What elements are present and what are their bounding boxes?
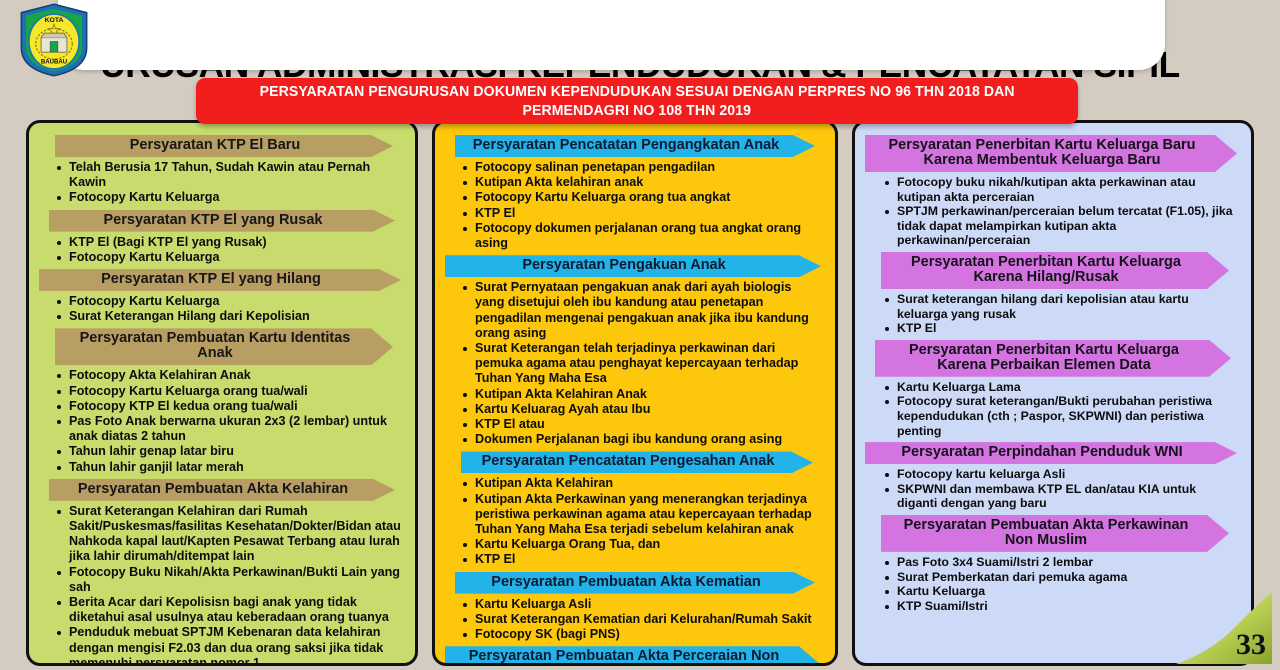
requirement-item: Kartu Keluarga Lama — [883, 380, 1239, 395]
header-plate — [58, 0, 1165, 70]
column-kartu-keluarga-perkawinan: Persyaratan Penerbitan Kartu Keluarga Ba… — [852, 120, 1254, 666]
kota-baubau-emblem-icon: KOTA BAUBAU — [16, 2, 92, 78]
logo-text-bottom: BAUBAU — [41, 59, 68, 66]
requirement-item: Surat Keterangan Hilang dari Kepolisian — [55, 309, 403, 324]
requirement-list: Pas Foto 3x4 Suami/Istri 2 lembarSurat P… — [865, 555, 1241, 613]
requirement-list: Surat Keterangan Kelahiran dari Rumah Sa… — [39, 504, 405, 666]
requirement-item: Penduduk mebuat SPTJM Kebenaran data kel… — [55, 625, 403, 666]
regulation-banner-line-2: PERMENDAGRI NO 108 THN 2019 — [523, 102, 752, 121]
requirement-list: Fotocopy salinan penetapan pengadilanKut… — [445, 160, 825, 251]
requirement-item: Fotocopy salinan penetapan pengadilan — [461, 160, 823, 175]
requirement-item: Kartu Keluarag Ayah atau Ibu — [461, 402, 823, 417]
requirement-list: Kartu Keluarga AsliSurat Keterangan Kema… — [445, 597, 825, 643]
section-header: Persyaratan Pembuatan Kartu Identitas An… — [55, 328, 393, 365]
requirement-item: Pas Foto Anak berwarna ukuran 2x3 (2 lem… — [55, 414, 403, 444]
requirement-item: Fotocopy kartu keluarga Asli — [883, 467, 1239, 482]
requirement-list: Fotocopy Kartu KeluargaSurat Keterangan … — [39, 294, 405, 324]
page-number: 33 — [1236, 628, 1266, 662]
section-header: Persyaratan Perpindahan Penduduk WNI — [865, 442, 1237, 464]
requirement-item: Fotocopy Akta Kelahiran Anak — [55, 368, 403, 383]
requirement-item: Tahun lahir ganjil latar merah — [55, 460, 403, 475]
section-header: Persyaratan Penerbitan Kartu Keluarga Ka… — [881, 252, 1229, 289]
requirement-item: KTP El (Bagi KTP El yang Rusak) — [55, 235, 403, 250]
requirement-item: Fotocopy Kartu Keluarga orang tua/wali — [55, 384, 403, 399]
requirement-list: Surat keterangan hilang dari kepolisian … — [865, 292, 1241, 336]
section-header: Persyaratan Pembuatan Akta Kelahiran — [49, 479, 395, 501]
section-header: Persyaratan Pencatatan Pengesahan Anak — [461, 451, 813, 473]
section-header: Persyaratan Pengakuan Anak — [445, 255, 821, 277]
section-header: Persyaratan Pembuatan Akta Perceraian No… — [445, 646, 821, 666]
requirement-item: Fotocopy SK (bagi PNS) — [461, 627, 823, 642]
section-header: Persyaratan Penerbitan Kartu Keluarga Ka… — [875, 340, 1231, 377]
requirement-item: Fotocopy dokumen perjalanan orang tua an… — [461, 221, 823, 251]
requirement-item: KTP El — [883, 321, 1239, 336]
requirement-item: KTP El atau — [461, 417, 823, 432]
requirement-list: KTP El (Bagi KTP El yang Rusak)Fotocopy … — [39, 235, 405, 265]
requirement-item: Fotocopy surat keterangan/Bukti perubaha… — [883, 394, 1239, 438]
section-header: Persyaratan Pembuatan Akta Perkawinan No… — [881, 515, 1229, 552]
section-header: Persyaratan Penerbitan Kartu Keluarga Ba… — [865, 135, 1237, 172]
requirement-item: KTP El — [461, 552, 823, 567]
requirement-item: SPTJM perkawinan/perceraian belum tercat… — [883, 204, 1239, 248]
requirement-item: Surat Keterangan telah terjadinya perkaw… — [461, 341, 823, 387]
requirement-item: Surat Pernyataan pengakuan anak dari aya… — [461, 280, 823, 341]
logo-text-top: KOTA — [45, 17, 64, 24]
requirement-item: Kutipan Akta Kelahiran Anak — [461, 387, 823, 402]
requirement-item: Pas Foto 3x4 Suami/Istri 2 lembar — [883, 555, 1239, 570]
requirement-list: Fotocopy Akta Kelahiran AnakFotocopy Kar… — [39, 368, 405, 474]
requirement-item: Fotocopy Buku Nikah/Akta Perkawinan/Bukt… — [55, 565, 403, 595]
requirement-item: SKPWNI dan membawa KTP EL dan/atau KIA u… — [883, 482, 1239, 511]
requirement-item: Telah Berusia 17 Tahun, Sudah Kawin atau… — [55, 160, 403, 190]
section-header: Persyaratan Pembuatan Akta Kematian — [455, 572, 815, 594]
requirement-list: Fotocopy buku nikah/kutipan akta perkawi… — [865, 175, 1241, 248]
requirement-list: Kutipan Akta KelahiranKutipan Akta Perka… — [445, 476, 825, 567]
requirement-item: Fotocopy Kartu Keluarga — [55, 190, 403, 205]
requirement-item: Dokumen Perjalanan bagi ibu kandung oran… — [461, 432, 823, 447]
column-ktp-akta-kelahiran: Persyaratan KTP El BaruTelah Berusia 17 … — [26, 120, 418, 666]
requirement-item: Berita Acar dari Kepolisisn bagi anak ya… — [55, 595, 403, 625]
section-header: Persyaratan KTP El Baru — [55, 135, 393, 157]
requirement-item: KTP El — [461, 206, 823, 221]
requirement-item: KTP Suami/Istri — [883, 599, 1239, 614]
requirement-item: Kutipan Akta Perkawinan yang menerangkan… — [461, 492, 823, 538]
regulation-banner: PERSYARATAN PENGURUSAN DOKUMEN KEPENDUDU… — [196, 78, 1078, 124]
requirement-item: Fotocopy Kartu Keluarga — [55, 294, 403, 309]
requirement-item: Fotocopy buku nikah/kutipan akta perkawi… — [883, 175, 1239, 204]
requirement-item: Tahun lahir genap latar biru — [55, 444, 403, 459]
requirement-item: Surat Keterangan Kelahiran dari Rumah Sa… — [55, 504, 403, 565]
section-header: Persyaratan KTP El yang Rusak — [49, 210, 395, 232]
requirement-item: Kutipan Akta Kelahiran — [461, 476, 823, 491]
requirement-item: Kartu Keluarga Asli — [461, 597, 823, 612]
column-anak-kematian-perceraian: Persyaratan Pencatatan Pengangkatan Anak… — [432, 120, 838, 666]
requirement-item: Kartu Keluarga Orang Tua, dan — [461, 537, 823, 552]
requirement-item: Kutipan Akta kelahiran anak — [461, 175, 823, 190]
requirement-list: Kartu Keluarga LamaFotocopy surat ketera… — [865, 380, 1241, 438]
requirement-item: Surat keterangan hilang dari kepolisian … — [883, 292, 1239, 321]
regulation-banner-line-1: PERSYARATAN PENGURUSAN DOKUMEN KEPENDUDU… — [259, 83, 1014, 102]
requirement-list: Fotocopy kartu keluarga AsliSKPWNI dan m… — [865, 467, 1241, 511]
requirement-list: Surat Pernyataan pengakuan anak dari aya… — [445, 280, 825, 447]
requirement-item: Kartu Keluarga — [883, 584, 1239, 599]
requirement-list: Telah Berusia 17 Tahun, Sudah Kawin atau… — [39, 160, 405, 206]
requirement-item: Surat Pemberkatan dari pemuka agama — [883, 570, 1239, 585]
section-header: Persyaratan Pencatatan Pengangkatan Anak — [455, 135, 815, 157]
requirement-item: Fotocopy Kartu Keluarga orang tua angkat — [461, 190, 823, 205]
section-header: Persyaratan KTP El yang Hilang — [39, 269, 401, 291]
requirement-item: Surat Keterangan Kematian dari Kelurahan… — [461, 612, 823, 627]
requirement-item: Fotocopy KTP El kedua orang tua/wali — [55, 399, 403, 414]
requirement-item: Fotocopy Kartu Keluarga — [55, 250, 403, 265]
